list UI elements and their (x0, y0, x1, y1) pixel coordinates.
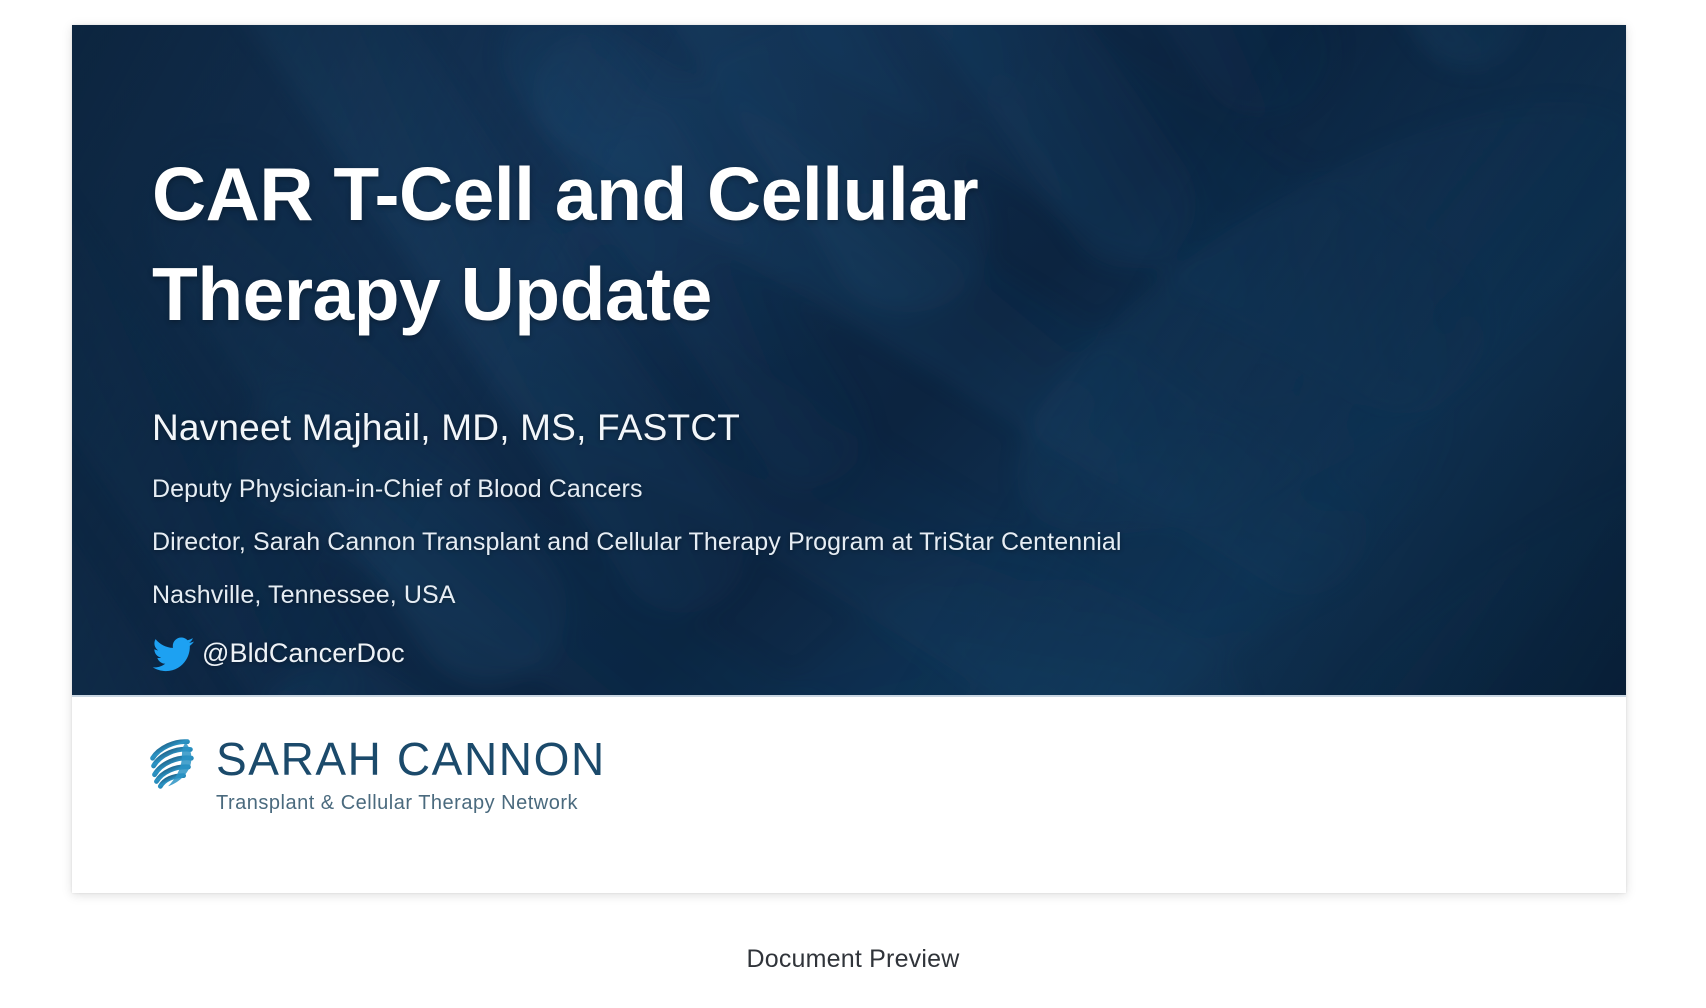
social-handle-row: @BldCancerDoc (152, 636, 1566, 672)
presenter-affiliation-program: Director, Sarah Cannon Transplant and Ce… (152, 528, 1566, 557)
presenter-affiliation-location: Nashville, Tennessee, USA (152, 581, 1566, 610)
presenter-name: Navneet Majhail, MD, MS, FASTCT (152, 407, 1566, 449)
slide-footer-panel: SARAH CANNON Transplant & Cellular Thera… (72, 695, 1626, 893)
document-preview-viewer: CAR T-Cell and Cellular Therapy Update N… (0, 0, 1706, 1008)
slide-text-block: CAR T-Cell and Cellular Therapy Update N… (152, 145, 1566, 672)
presenter-affiliation-role: Deputy Physician-in-Chief of Blood Cance… (152, 475, 1566, 504)
logo-text-group: SARAH CANNON Transplant & Cellular Thera… (216, 733, 606, 813)
document-preview-caption: Document Preview (0, 945, 1706, 974)
sarah-cannon-swirl-icon (140, 733, 202, 795)
logo-wordmark: SARAH CANNON (216, 736, 606, 782)
logo-tagline: Transplant & Cellular Therapy Network (216, 793, 606, 813)
slide-hero-panel: CAR T-Cell and Cellular Therapy Update N… (72, 25, 1626, 695)
document-page-card[interactable]: CAR T-Cell and Cellular Therapy Update N… (72, 25, 1626, 893)
slide-title: CAR T-Cell and Cellular Therapy Update (152, 145, 1566, 345)
presenter-block: Navneet Majhail, MD, MS, FASTCT Deputy P… (152, 407, 1566, 672)
twitter-bird-icon (152, 636, 196, 672)
twitter-handle-text: @BldCancerDoc (202, 638, 405, 669)
sarah-cannon-logo: SARAH CANNON Transplant & Cellular Thera… (140, 733, 606, 813)
